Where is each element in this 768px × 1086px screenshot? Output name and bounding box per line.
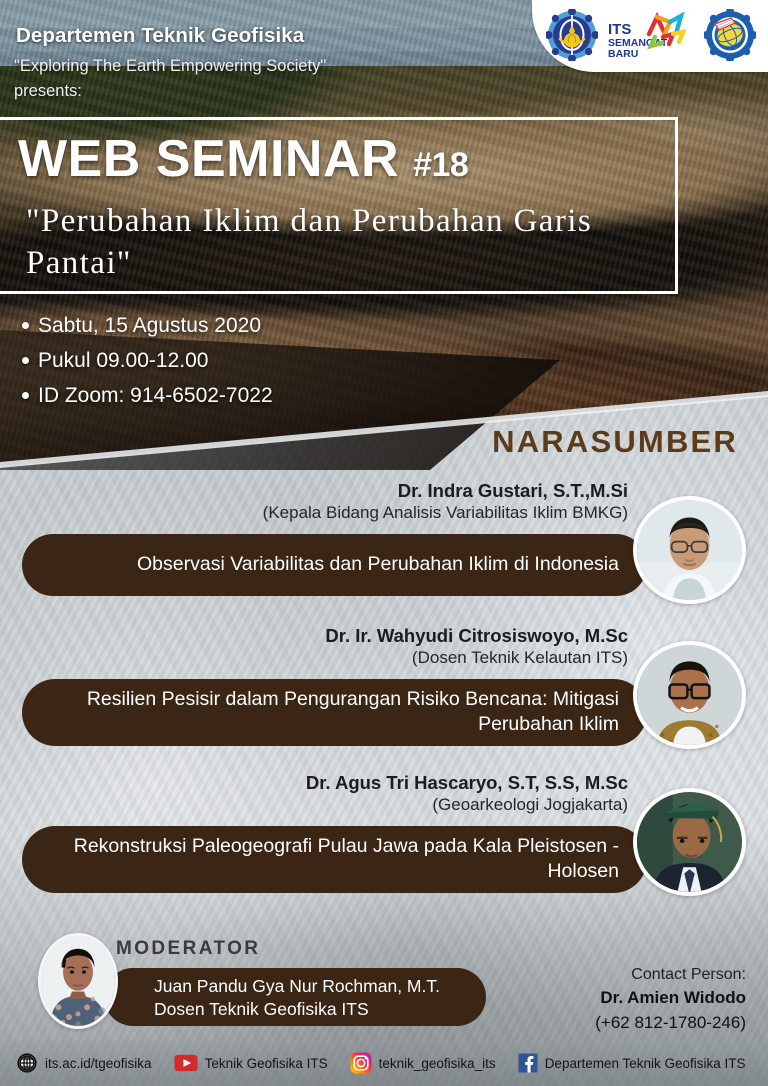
speaker-name: Dr. Indra Gustari, S.T.,M.Si (68, 480, 628, 501)
speaker-topic: Rekonstruksi Paleogeografi Pulau Jawa pa… (46, 834, 619, 884)
its-semangat-baru-logo: ITS SEMANGAT BARU (607, 10, 695, 60)
speaker-topic-bar: Observasi Variabilitas dan Perubahan Ikl… (22, 534, 647, 596)
contact-label: Contact Person: (486, 963, 746, 986)
its-institute-logo (546, 9, 598, 61)
footer-website-label: its.ac.id/tgeofisika (45, 1056, 152, 1071)
event-details-list: Sabtu, 15 Agustus 2020 Pukul 09.00-12.00… (22, 315, 273, 420)
globe-icon (16, 1052, 38, 1074)
footer-instagram[interactable]: teknik_geofisika_its (350, 1052, 496, 1074)
speaker-affiliation: (Kepala Bidang Analisis Variabilitas Ikl… (68, 503, 628, 523)
footer-website[interactable]: its.ac.id/tgeofisika (16, 1052, 152, 1074)
speaker-name: Dr. Agus Tri Hascaryo, S.T, S.S, M.Sc (68, 772, 628, 793)
event-time: Pukul 09.00-12.00 (38, 350, 208, 371)
list-item: Sabtu, 15 Agustus 2020 (22, 315, 273, 336)
event-zoom-id: ID Zoom: 914-6502-7022 (38, 385, 273, 406)
list-item: Pukul 09.00-12.00 (22, 350, 273, 371)
presents-label: presents: (14, 82, 82, 101)
bullet-icon (22, 392, 29, 399)
bullet-icon (22, 322, 29, 329)
department-title: Departemen Teknik Geofisika (16, 24, 304, 48)
youtube-icon (174, 1054, 198, 1072)
seminar-number: #18 (413, 146, 468, 185)
seminar-title-line: WEB SEMINAR #18 (18, 133, 468, 185)
footer-social-bar: its.ac.id/tgeofisika Teknik Geofisika IT… (0, 1040, 768, 1086)
list-item: ID Zoom: 914-6502-7022 (22, 385, 273, 406)
seminar-subtitle: "Perubahan Iklim dan Perubahan Garis Pan… (26, 200, 626, 284)
speaker-affiliation: (Dosen Teknik Kelautan ITS) (68, 648, 628, 668)
speaker-affiliation: (Geoarkeologi Jogjakarta) (68, 795, 628, 815)
facebook-icon (518, 1053, 538, 1073)
speaker-name: Dr. Ir. Wahyudi Citrosiswoyo, M.Sc (68, 625, 628, 646)
moderator-role: Dosen Teknik Geofisika ITS (154, 998, 464, 1021)
speakers-heading: NARASUMBER (492, 424, 738, 460)
moderator-info-bar: Juan Pandu Gya Nur Rochman, M.T. Dosen T… (104, 968, 486, 1026)
logo-row: ITS SEMANGAT BARU (546, 6, 756, 64)
contact-name: Dr. Amien Widodo (486, 986, 746, 1011)
contact-phone: (+62 812-1780-246) (486, 1011, 746, 1035)
contact-person-block: Contact Person: Dr. Amien Widodo (+62 81… (486, 963, 746, 1035)
speaker-topic-bar: Resilien Pesisir dalam Pengurangan Risik… (22, 679, 647, 746)
speaker-topic-bar: Rekonstruksi Paleogeografi Pulau Jawa pa… (22, 826, 647, 893)
teknik-geofisika-logo (704, 9, 756, 61)
footer-instagram-label: teknik_geofisika_its (379, 1056, 496, 1071)
moderator-name: Juan Pandu Gya Nur Rochman, M.T. (154, 975, 464, 998)
footer-facebook-label: Departemen Teknik Geofisika ITS (545, 1056, 746, 1071)
moderator-photo-juan-pandu (38, 933, 118, 1029)
speaker-photo-wahyudi-citrosiswoyo (633, 641, 746, 749)
bullet-icon (22, 357, 29, 364)
instagram-icon (350, 1052, 372, 1074)
page-title: WEB SEMINAR (18, 133, 399, 185)
speaker-topic: Observasi Variabilitas dan Perubahan Ikl… (137, 552, 619, 577)
speaker-topic: Resilien Pesisir dalam Pengurangan Risik… (46, 687, 619, 737)
speaker-photo-agus-tri-hascaryo (633, 788, 746, 896)
svg-text:ITS: ITS (608, 21, 631, 38)
seminar-poster: ITS SEMANGAT BARU (0, 0, 768, 1086)
moderator-label: MODERATOR (116, 938, 260, 960)
footer-youtube-label: Teknik Geofisika ITS (205, 1056, 328, 1071)
speaker-photo-indra-gustari (633, 496, 746, 604)
footer-facebook[interactable]: Departemen Teknik Geofisika ITS (518, 1053, 746, 1073)
department-tagline: "Exploring The Earth Empowering Society" (14, 57, 326, 76)
event-date: Sabtu, 15 Agustus 2020 (38, 315, 261, 336)
svg-text:BARU: BARU (608, 48, 638, 60)
footer-youtube[interactable]: Teknik Geofisika ITS (174, 1054, 328, 1072)
